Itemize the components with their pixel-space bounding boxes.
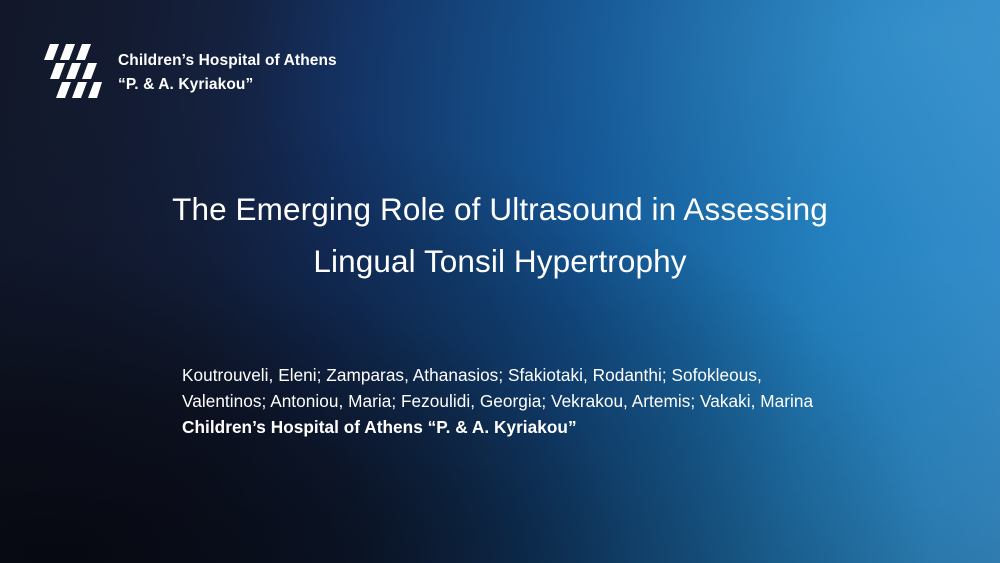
hospital-logo-lockup: Children’s Hospital of Athens “P. & A. K… [44, 42, 337, 104]
author-list-line-1: Koutrouveli, Eleni; Zamparas, Athanasios… [182, 362, 902, 388]
presentation-title-slide: Children’s Hospital of Athens “P. & A. K… [0, 0, 1000, 563]
author-list-line-2: Valentinos; Antoniou, Maria; Fezoulidi, … [182, 388, 902, 414]
slide-title-line-2: Lingual Tonsil Hypertrophy [0, 235, 1000, 287]
author-list: Koutrouveli, Eleni; Zamparas, Athanasios… [182, 362, 902, 440]
diagonal-slash-grid-logo-icon [44, 42, 102, 104]
hospital-name-line-1: Children’s Hospital of Athens [118, 49, 337, 73]
author-affiliation: Children’s Hospital of Athens “P. & A. K… [182, 414, 902, 440]
slide-title: The Emerging Role of Ultrasound in Asses… [0, 183, 1000, 287]
hospital-name-line-2: “P. & A. Kyriakou” [118, 73, 337, 97]
hospital-logo-text: Children’s Hospital of Athens “P. & A. K… [118, 49, 337, 97]
slide-title-line-1: The Emerging Role of Ultrasound in Asses… [0, 183, 1000, 235]
